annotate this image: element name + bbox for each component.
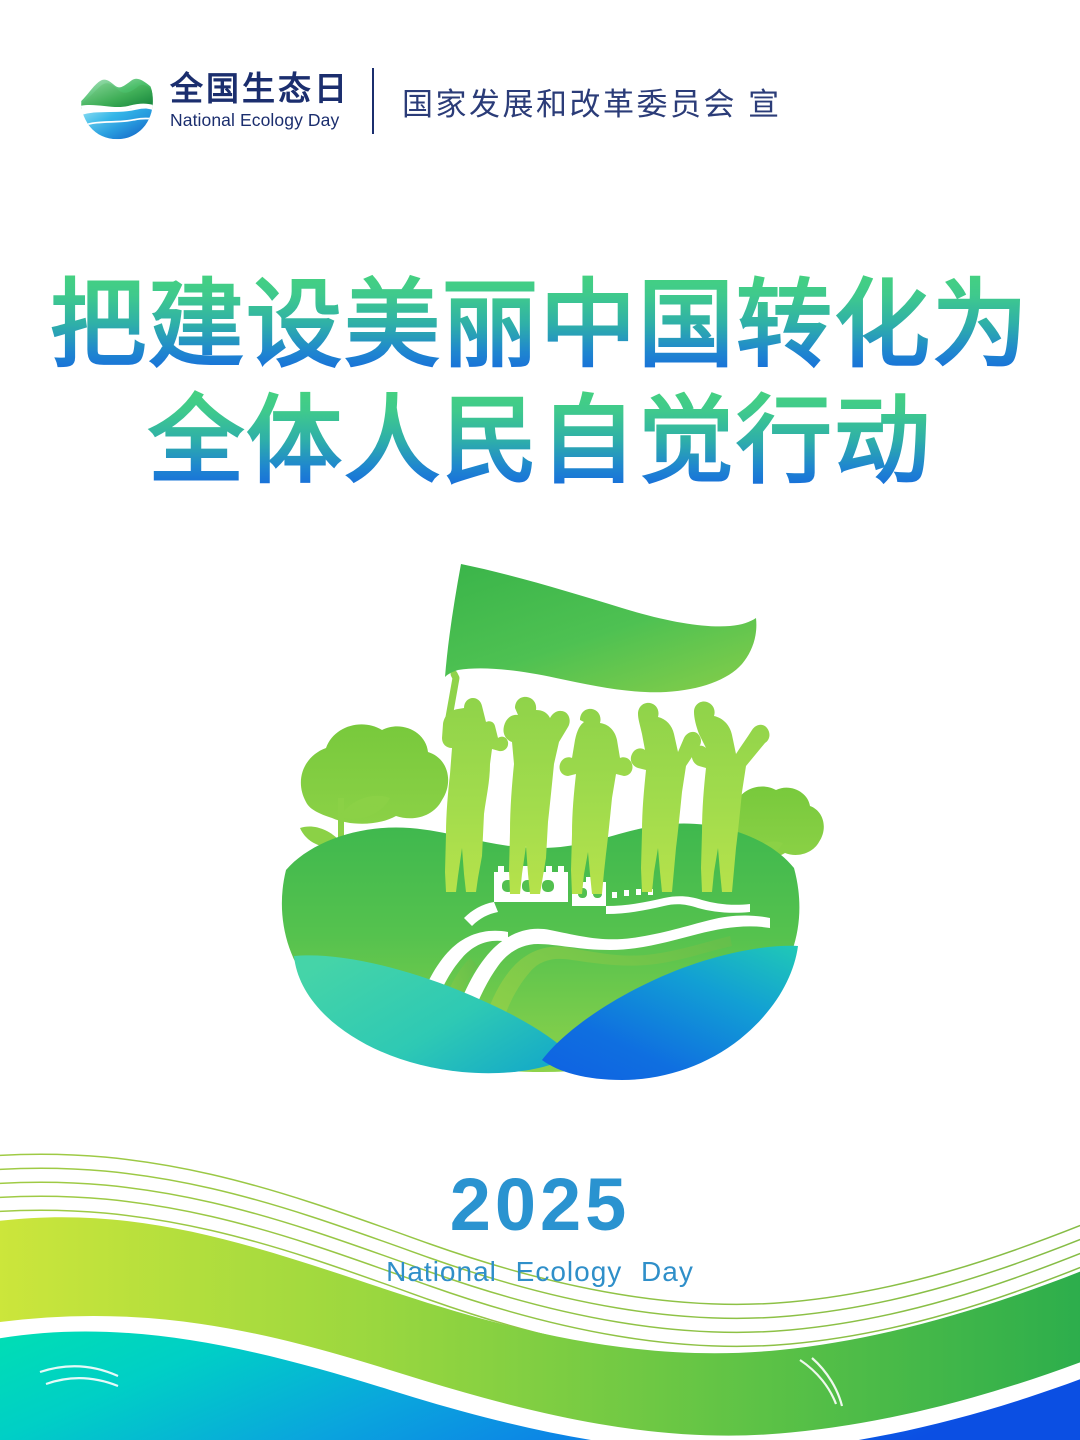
ecology-scene-illustration [250,552,830,1112]
logo-title-cn: 全国生态日 [170,72,350,107]
agency-label: 国家发展和改革委员会 宣 [402,79,782,124]
logo-title-en: National Ecology Day [170,110,350,132]
ecology-leaf-mountain-water-logo-icon [78,60,156,142]
poster-header: 全国生态日 National Ecology Day 国家发展和改革委员会 宣 [78,55,782,147]
page-title: 把建设美丽中国转化为 全体人民自觉行动 [0,272,1080,495]
title-line-2: 全体人民自觉行动 [0,388,1080,496]
year-subtitle: National Ecology Day [0,1256,1080,1288]
header-divider [372,68,374,134]
logo-wordmark: 全国生态日 National Ecology Day [170,70,350,132]
poster-canvas: 全国生态日 National Ecology Day 国家发展和改革委员会 宣 … [0,0,1080,1440]
year-block: 2025 National Ecology Day [0,1168,1080,1288]
title-line-1: 把建设美丽中国转化为 [0,272,1080,380]
year-label: 2025 [0,1168,1080,1242]
